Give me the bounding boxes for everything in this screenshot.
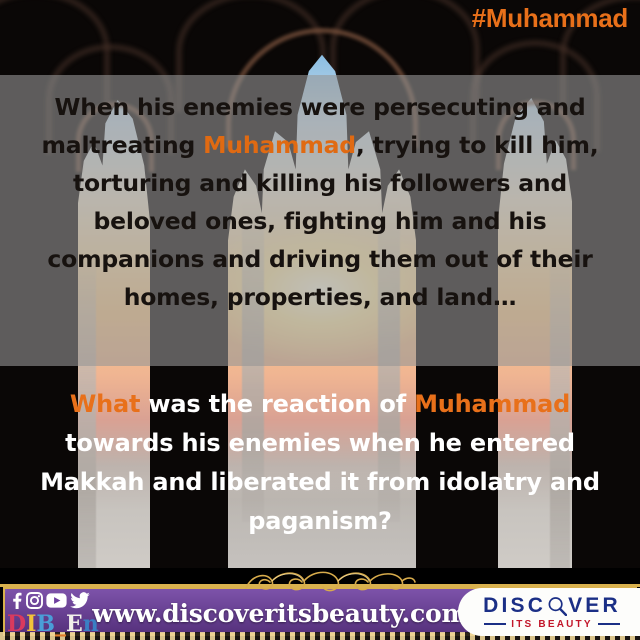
handle-letter-0: D [7, 611, 26, 637]
question-part-1: was the reaction of [140, 390, 414, 418]
footer-banner: DIB_En www.discoveritsbeauty.com DISC VE… [0, 568, 640, 640]
question-highlight-what: What [70, 390, 140, 418]
handle-letter-2: B [36, 611, 55, 637]
logo-word-after: VER [568, 595, 621, 617]
magnifier-icon [547, 596, 567, 616]
instagram-icon[interactable] [26, 592, 43, 609]
logo-rule-left [484, 623, 506, 625]
quote-text: When his enemies were persecuting and ma… [0, 88, 640, 316]
poster-canvas: #Muhammad When his enemies were persecut… [0, 0, 640, 640]
logo-tagline: ITS BEAUTY [511, 619, 592, 630]
question-part-2: towards his enemies when he entered Makk… [40, 429, 600, 535]
hashtag-label: #Muhammad [472, 3, 628, 34]
handle-letter-4: E [66, 611, 83, 637]
handle-letter-3: _ [55, 611, 66, 637]
logo-tagline-row: ITS BEAUTY [478, 619, 619, 630]
question-highlight-muhammad: Muhammad [414, 390, 570, 418]
youtube-icon[interactable] [46, 593, 67, 608]
logo-word-before: DISC [483, 595, 546, 617]
facebook-icon[interactable] [10, 592, 23, 609]
question-text: What was the reaction of Muhammad toward… [0, 385, 640, 541]
handle-letter-1: I [26, 611, 36, 637]
website-url[interactable]: www.discoveritsbeauty.com [112, 591, 448, 635]
twitter-icon[interactable] [70, 592, 90, 609]
logo-rule-right [598, 623, 620, 625]
discover-its-beauty-logo[interactable]: DISC VER ITS BEAUTY [458, 588, 640, 636]
logo-wordmark: DISC VER [477, 595, 621, 617]
quote-highlight-muhammad: Muhammad [203, 131, 356, 159]
